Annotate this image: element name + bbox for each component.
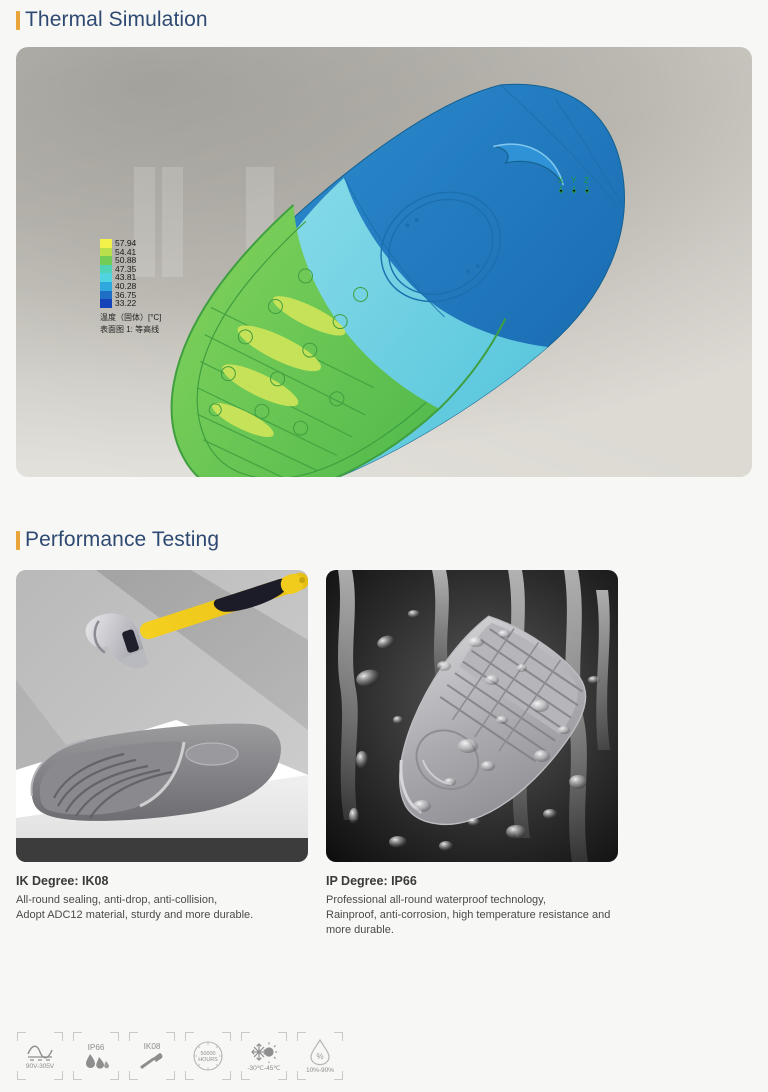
test-cards-container: IK Degree: IK08 All-round sealing, anti-… (16, 570, 752, 938)
heading-accent-bar (16, 11, 20, 30)
badge-humidity: % 10%-90% (296, 1030, 344, 1082)
lifetime-hours-unit: HOURS (198, 1057, 218, 1063)
badge-voltage: 90V-305V (16, 1030, 64, 1082)
hammer-icon (138, 1052, 166, 1070)
thermal-section-title: Thermal Simulation (25, 8, 208, 32)
humidity-percent-symbol: % (316, 1052, 323, 1061)
ik-desc-line-1: All-round sealing, anti-drop, anti-colli… (16, 893, 308, 908)
badge-temperature-label: -30℃-45℃ (247, 1064, 280, 1072)
legend-value: 33.22 (115, 299, 136, 308)
snow-sun-icon (249, 1041, 279, 1063)
badge-humidity-label: 10%-90% (306, 1067, 334, 1074)
legend-value-list: 57.94 54.41 50.88 47.35 43.81 40.28 36.7… (115, 239, 136, 308)
badge-ik-label: IK08 (144, 1042, 161, 1051)
product-spec-page: Thermal Simulation (0, 0, 768, 1092)
badge-ip-rating: IP66 (72, 1030, 120, 1082)
svg-text:Z: Z (584, 176, 589, 185)
badge-ik-rating: IK08 (128, 1030, 176, 1082)
ik-desc-line-2: Adopt ADC12 material, sturdy and more du… (16, 908, 308, 923)
thermal-section-heading: Thermal Simulation (16, 8, 752, 32)
thermal-simulation-image: X Y Z (16, 47, 752, 477)
performance-testing-section: Performance Testing (16, 528, 752, 938)
badge-voltage-label: 90V-305V (26, 1063, 54, 1070)
thermal-simulation-section: Thermal Simulation (16, 8, 752, 477)
svg-text:X: X (558, 176, 564, 185)
ac-waveform-icon (26, 1042, 54, 1062)
humidity-drop-icon: % (308, 1038, 332, 1066)
heading-accent-bar (16, 531, 20, 550)
svg-text:Y: Y (571, 176, 577, 185)
lifetime-clock-icon: 50000 HOURS (191, 1039, 225, 1073)
ip-card-title: IP Degree: IP66 (326, 874, 618, 888)
ip-desc-line-3: more durable. (326, 923, 618, 938)
ik-impact-test-photo (16, 570, 308, 862)
ip-desc-line-2: Rainproof, anti-corrosion, high temperat… (326, 908, 618, 923)
thermal-legend: 57.94 54.41 50.88 47.35 43.81 40.28 36.7… (100, 239, 161, 335)
performance-section-heading: Performance Testing (16, 528, 752, 552)
ip-desc-line-1: Professional all-round waterproof techno… (326, 893, 618, 908)
ip-card-description: Professional all-round waterproof techno… (326, 893, 618, 938)
ip-test-card: IP Degree: IP66 Professional all-round w… (326, 570, 618, 938)
performance-section-title: Performance Testing (25, 528, 219, 552)
badge-temperature-range: -30℃-45℃ (240, 1030, 288, 1082)
ik-card-description: All-round sealing, anti-drop, anti-colli… (16, 893, 308, 923)
ip-waterproof-test-photo (326, 570, 618, 862)
spec-badges-row: 90V-305V IP66 IK08 (16, 1030, 344, 1082)
ik-test-card: IK Degree: IK08 All-round sealing, anti-… (16, 570, 308, 938)
water-drops-icon (82, 1053, 110, 1069)
legend-caption-unit: 温度（固体）[°C] (100, 312, 161, 323)
badge-lifetime: 50000 HOURS (184, 1030, 232, 1082)
legend-color-swatches (100, 239, 112, 308)
ik-card-title: IK Degree: IK08 (16, 874, 308, 888)
badge-ip-label: IP66 (88, 1043, 105, 1052)
legend-caption-plot: 表面图 1: 等高线 (100, 324, 161, 335)
